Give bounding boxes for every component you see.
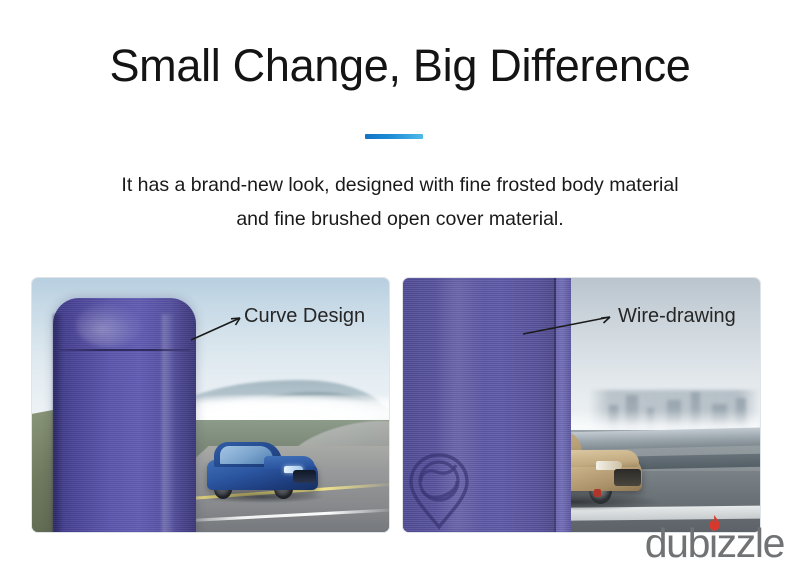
flame-icon xyxy=(707,515,722,537)
map-pin-swirl-logo-icon xyxy=(407,452,471,530)
subtitle-line-1: It has a brand-new look, designed with f… xyxy=(60,168,740,202)
product-body-curved xyxy=(53,298,196,533)
callout-label-wire-drawing: Wire-drawing xyxy=(618,305,736,328)
callout-label-curve-design: Curve Design xyxy=(244,305,365,328)
blue-sedan-car xyxy=(207,441,318,499)
product-cap-gloss xyxy=(76,303,142,346)
product-feature-slide: Small Change, Big Difference It has a br… xyxy=(0,0,800,571)
dubizzle-watermark: dubizzle xyxy=(645,521,784,565)
wire-drawing-arrow-icon xyxy=(522,300,618,342)
page-title: Small Change, Big Difference xyxy=(0,38,800,94)
product-right-edge-highlight xyxy=(162,314,175,533)
gradient-divider xyxy=(365,134,423,139)
subtitle-line-2: and fine brushed open cover material. xyxy=(60,202,740,236)
curve-design-arrow-icon xyxy=(190,300,250,342)
car-grille xyxy=(614,469,641,487)
car-grille xyxy=(293,470,316,483)
product-left-edge-shade xyxy=(53,314,63,533)
page-subtitle: It has a brand-new look, designed with f… xyxy=(60,168,740,236)
product-cap-seam xyxy=(59,349,190,351)
brake-caliper xyxy=(594,489,601,498)
